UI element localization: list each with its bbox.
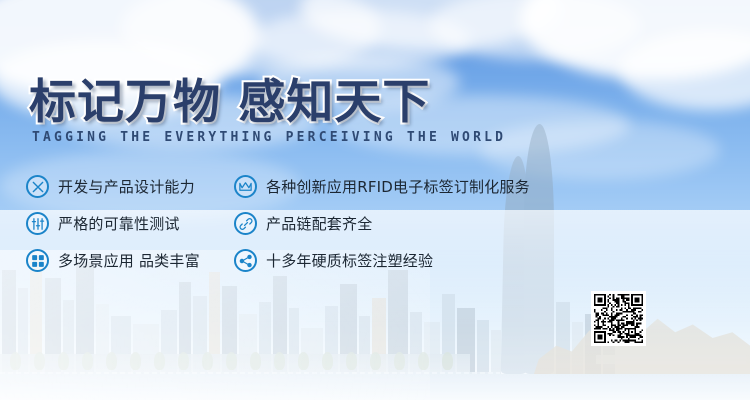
- promo-banner: 标记万物 感知天下 TAGGING THE EVERYTHING PERCEIV…: [0, 0, 750, 400]
- banner-title: 标记万物 感知天下: [29, 78, 430, 127]
- feature-label: 十多年硬质标签注塑经验: [266, 250, 433, 271]
- banner-content: 标记万物 感知天下 TAGGING THE EVERYTHING PERCEIV…: [0, 0, 750, 400]
- grid-icon: [26, 249, 49, 272]
- feature-column-right: 各种创新应用RFID电子标签订制化服务 产品链配套齐全: [234, 168, 530, 279]
- feature-item: 多场景应用 品类丰富: [26, 242, 200, 279]
- feature-label: 多场景应用 品类丰富: [58, 250, 200, 271]
- feature-label: 产品链配套齐全: [266, 213, 372, 234]
- feature-item: 严格的可靠性测试: [26, 205, 200, 242]
- feature-item: 开发与产品设计能力: [26, 168, 200, 205]
- qr-code[interactable]: [591, 291, 646, 346]
- feature-column-left: 开发与产品设计能力 严格的可靠性测试: [26, 168, 200, 279]
- feature-label: 各种创新应用RFID电子标签订制化服务: [266, 176, 530, 197]
- crown-icon: [234, 175, 257, 198]
- feature-label: 严格的可靠性测试: [58, 213, 180, 234]
- link-icon: [234, 212, 257, 235]
- feature-label: 开发与产品设计能力: [58, 176, 195, 197]
- feature-item: 十多年硬质标签注塑经验: [234, 242, 530, 279]
- tools-icon: [26, 175, 49, 198]
- share-icon: [234, 249, 257, 272]
- feature-item: 产品链配套齐全: [234, 205, 530, 242]
- sliders-icon: [26, 212, 49, 235]
- feature-item: 各种创新应用RFID电子标签订制化服务: [234, 168, 530, 205]
- banner-subtitle: TAGGING THE EVERYTHING PERCEIVING THE WO…: [32, 130, 506, 145]
